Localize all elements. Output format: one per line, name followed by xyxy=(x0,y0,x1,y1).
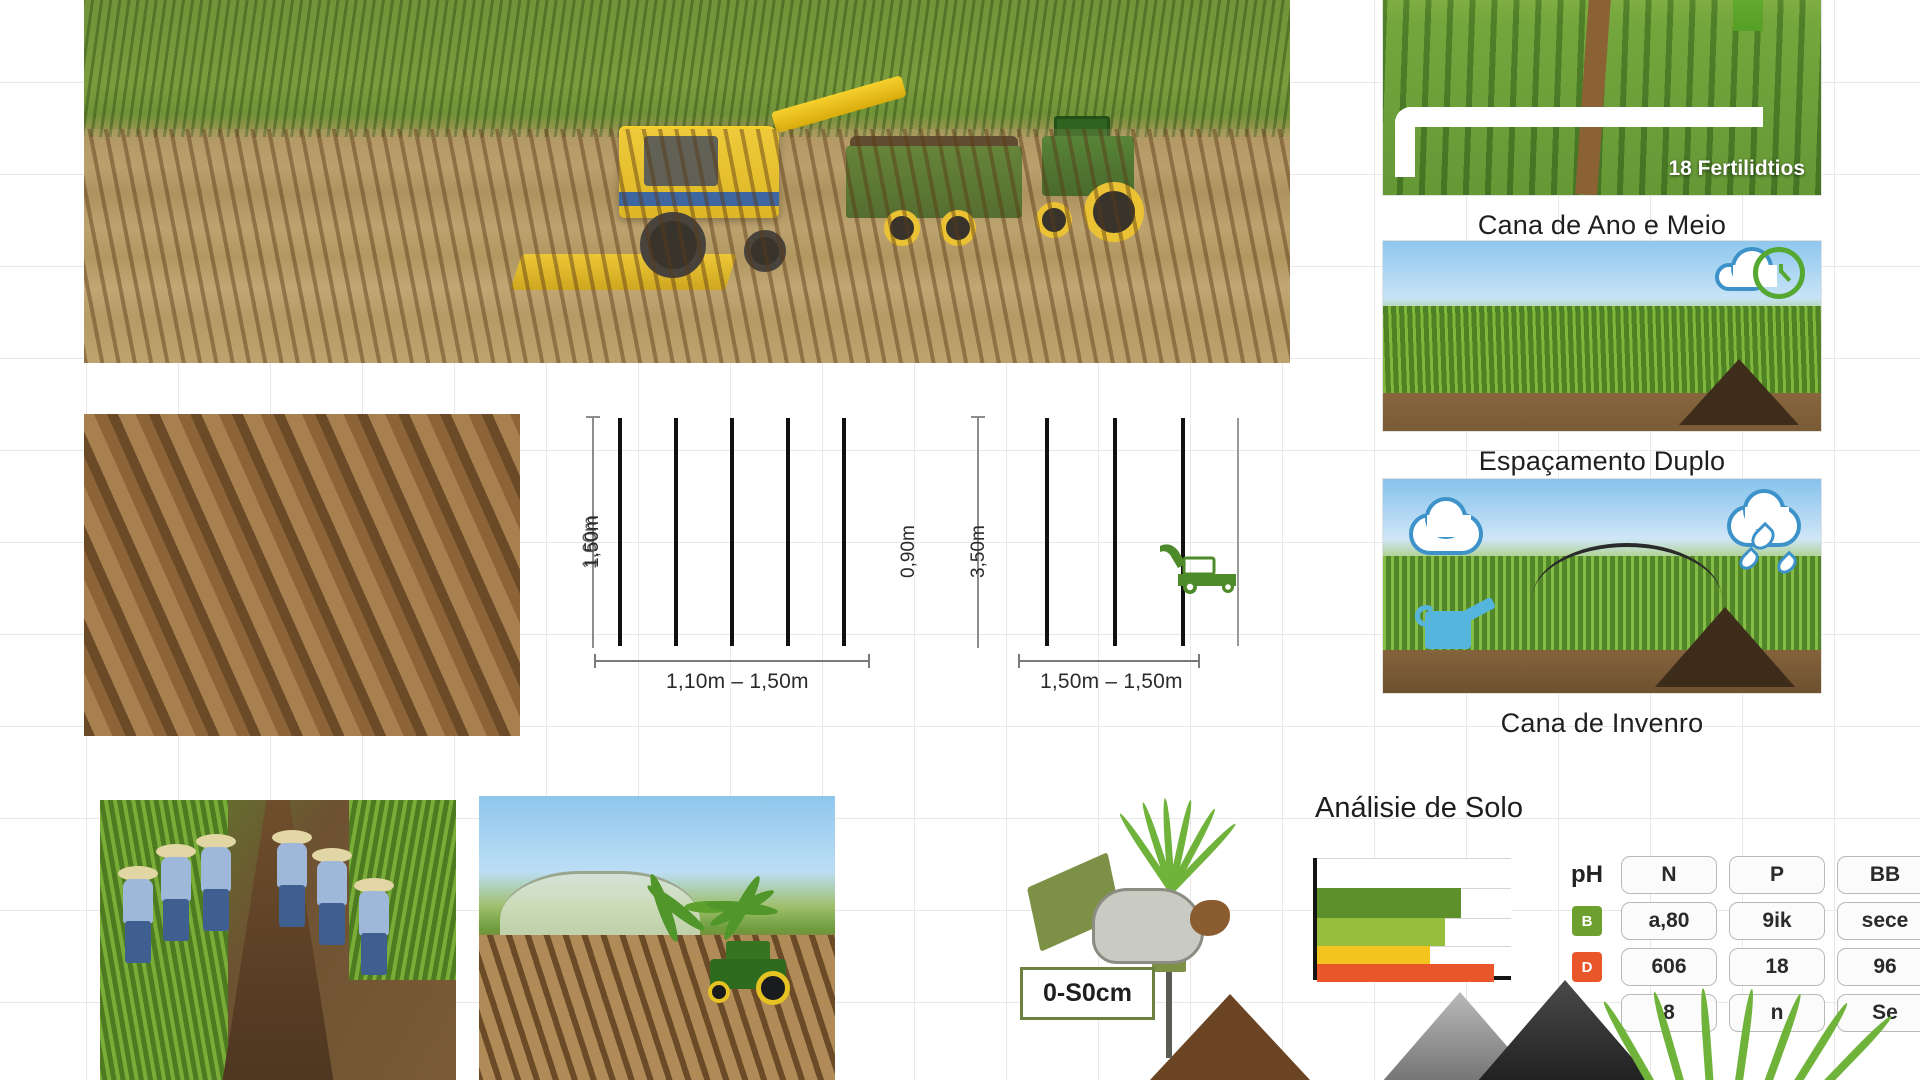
spacing-diagram-left xyxy=(560,408,890,708)
analysis-section-title: Análisie de Solo xyxy=(1315,792,1523,825)
watering-can-icon xyxy=(1415,597,1487,649)
right-vertical-dim-label-alt: 3,50m xyxy=(968,525,990,578)
table-header-ph: pH xyxy=(1565,861,1609,889)
trailer-load-icon xyxy=(850,136,1018,154)
gloved-hand-icon xyxy=(1092,888,1204,964)
row-line xyxy=(618,418,622,646)
table-header-p[interactable]: P xyxy=(1729,856,1825,894)
tractor-wheel-icon xyxy=(1036,202,1072,238)
sugarcane-harvest-photo xyxy=(84,0,1290,363)
table-header-n[interactable]: N xyxy=(1621,856,1717,894)
chart-bar xyxy=(1317,888,1461,918)
chart-bar xyxy=(1317,946,1430,964)
combine-unloader-arm-icon xyxy=(771,75,907,133)
status-badge: D xyxy=(1572,952,1602,982)
trailer-wheel-icon xyxy=(884,210,920,246)
worker-figure xyxy=(268,830,314,926)
row-line xyxy=(730,418,734,646)
combine-wheel-icon xyxy=(744,230,786,272)
card-thumbnail: 18 Fertilidtios xyxy=(1382,0,1822,196)
cloud-icon xyxy=(1409,513,1483,555)
card-thumbnail xyxy=(1382,240,1822,432)
trailer-wheel-icon xyxy=(940,210,976,246)
worker-figure xyxy=(308,848,354,944)
card-espacamento-duplo[interactable]: Espaçamento Duplo xyxy=(1382,240,1822,477)
combine-cab-icon xyxy=(644,136,718,186)
card-overlay-badge: 18 Fertilidtios xyxy=(1668,157,1805,181)
row-line xyxy=(1045,418,1049,646)
card-caption: Espaçamento Duplo xyxy=(1382,446,1822,477)
chart-bar xyxy=(1317,964,1494,982)
status-badge: B xyxy=(1572,906,1602,936)
soil-sampling-illustration: 0-S0cm xyxy=(1020,780,1320,1080)
row-line xyxy=(842,418,846,646)
combine-wheel-icon xyxy=(640,212,706,278)
worker-figure xyxy=(350,878,396,974)
clock-icon xyxy=(1753,247,1805,299)
grass-tuft-icon xyxy=(1112,780,1232,890)
harvester-icon xyxy=(1158,540,1244,594)
row-line xyxy=(674,418,678,646)
infographic-page: 1,50m 1,60m 1,10m – 1,50m 0,90m 3,50m 1,… xyxy=(0,0,1920,1080)
card-cana-de-ano-e-meio[interactable]: 18 Fertilidtios Cana de Ano e Meio xyxy=(1382,0,1822,241)
left-vertical-dim-label-alt: 1,60m xyxy=(580,516,602,569)
row-line xyxy=(1113,418,1117,646)
left-horizontal-dim-label: 1,10m – 1,50m xyxy=(666,670,809,694)
table-cell[interactable]: a,80 xyxy=(1621,902,1717,940)
worker-figure xyxy=(192,834,238,930)
tractor-wheel-icon xyxy=(1084,182,1144,242)
card-thumbnail xyxy=(1382,478,1822,694)
grass-tuft-icon xyxy=(1630,978,1880,1080)
combine-stripe-icon xyxy=(619,192,779,206)
card-caption: Cana de Ano e Meio xyxy=(1382,210,1822,241)
card-caption: Cana de Invenro xyxy=(1382,708,1822,739)
nursery-tractor-photo xyxy=(479,796,835,1080)
right-horizontal-dim-bar xyxy=(1018,660,1200,662)
combine-header-icon xyxy=(510,254,737,290)
chart-bar xyxy=(1317,918,1445,946)
card-cana-de-inverno[interactable]: Cana de Invenro xyxy=(1382,478,1822,739)
table-cell[interactable]: 9ik xyxy=(1729,902,1825,940)
combine-body-icon xyxy=(619,126,779,218)
tractor-icon xyxy=(700,941,796,1005)
left-horizontal-dim-bar xyxy=(594,660,870,662)
soil-heap-icon xyxy=(1150,994,1310,1080)
planting-machine-photo xyxy=(84,414,520,736)
row-line xyxy=(1181,418,1185,646)
field-workers-photo xyxy=(100,800,456,1080)
table-cell[interactable]: sece xyxy=(1837,902,1920,940)
tractor-cab-icon xyxy=(1054,116,1110,156)
row-line xyxy=(1237,418,1239,646)
soil-clod-icon xyxy=(1190,900,1230,936)
right-horizontal-dim-label: 1,50m – 1,50m xyxy=(1040,670,1183,694)
table-header-k[interactable]: BB xyxy=(1837,856,1920,894)
row-line xyxy=(786,418,790,646)
tractor-body-icon xyxy=(1042,136,1134,196)
arrow-up-icon xyxy=(1733,0,1763,31)
center-pivot-irrigation-icon xyxy=(1532,543,1722,599)
soil-analysis-bar-chart xyxy=(1313,858,1511,980)
right-vertical-dim-label: 0,90m xyxy=(898,525,920,578)
depth-label-chip: 0-S0cm xyxy=(1020,967,1155,1020)
trailer-body-icon xyxy=(846,146,1022,218)
